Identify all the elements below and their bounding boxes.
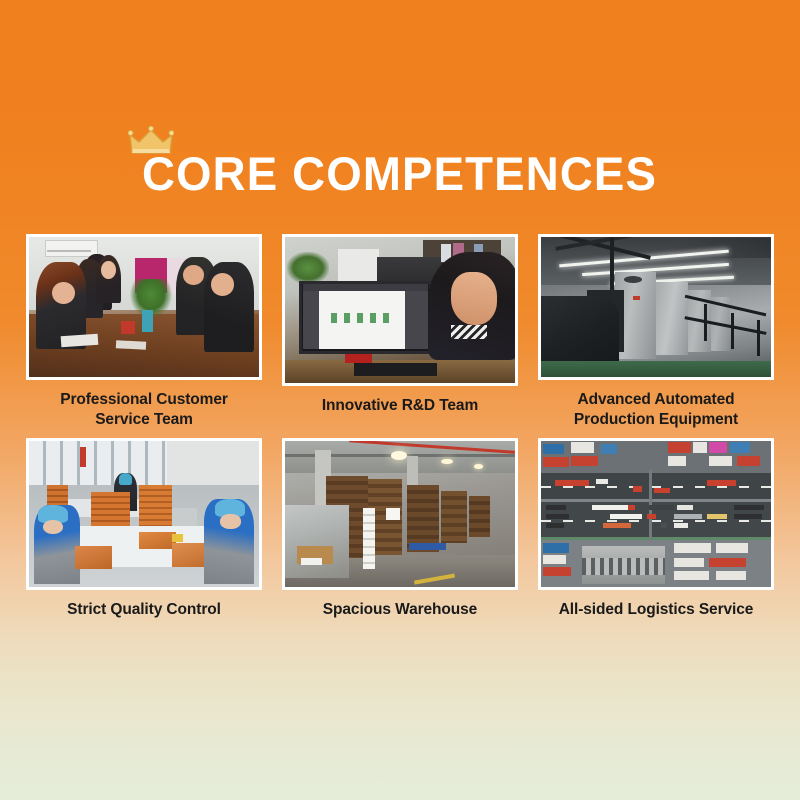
photo-frame bbox=[538, 438, 774, 590]
photo-frame bbox=[26, 234, 262, 380]
caption-line-2: Service Team bbox=[95, 411, 193, 428]
photo-warehouse-pallets bbox=[285, 441, 515, 587]
photo-frame bbox=[538, 234, 774, 380]
caption-line-1: Professional Customer bbox=[60, 391, 228, 408]
photo-quality-control-line bbox=[29, 441, 259, 587]
caption-line-1: Spacious Warehouse bbox=[323, 601, 477, 618]
photo-customer-service-meeting bbox=[29, 237, 259, 377]
title-block: CORE COMPETENCES bbox=[0, 150, 800, 197]
card-caption: Professional Customer Service Team bbox=[19, 390, 269, 430]
card-strict-quality-control[interactable]: Strict Quality Control bbox=[26, 438, 262, 634]
competence-grid: Professional Customer Service Team bbox=[26, 234, 774, 634]
photo-frame bbox=[282, 234, 518, 386]
caption-line-1: All-sided Logistics Service bbox=[559, 601, 754, 618]
card-caption: Advanced Automated Production Equipment bbox=[531, 390, 781, 430]
photo-production-press-line bbox=[541, 237, 771, 377]
photo-frame bbox=[282, 438, 518, 590]
card-caption: Innovative R&D Team bbox=[275, 396, 525, 416]
card-all-sided-logistics-service[interactable]: All-sided Logistics Service bbox=[538, 438, 774, 634]
photo-rd-designer bbox=[285, 237, 515, 383]
caption-line-1: Strict Quality Control bbox=[67, 601, 221, 618]
card-innovative-rd-team[interactable]: Innovative R&D Team bbox=[282, 234, 518, 430]
page-title: CORE COMPETENCES bbox=[142, 150, 657, 197]
card-caption: Spacious Warehouse bbox=[275, 600, 525, 620]
photo-frame bbox=[26, 438, 262, 590]
core-competences-banner: CORE COMPETENCES Professional C bbox=[0, 0, 800, 800]
title-wrap: CORE COMPETENCES bbox=[134, 150, 665, 197]
card-professional-customer-service-team[interactable]: Professional Customer Service Team bbox=[26, 234, 262, 430]
caption-line-1: Innovative R&D Team bbox=[322, 397, 478, 414]
card-advanced-automated-production-equipment[interactable]: Advanced Automated Production Equipment bbox=[538, 234, 774, 430]
card-spacious-warehouse[interactable]: Spacious Warehouse bbox=[282, 438, 518, 634]
caption-line-1: Advanced Automated bbox=[578, 391, 735, 408]
card-caption: All-sided Logistics Service bbox=[531, 600, 781, 620]
photo-logistics-aerial-port bbox=[541, 441, 771, 587]
card-caption: Strict Quality Control bbox=[19, 600, 269, 620]
caption-line-2: Production Equipment bbox=[574, 411, 738, 428]
